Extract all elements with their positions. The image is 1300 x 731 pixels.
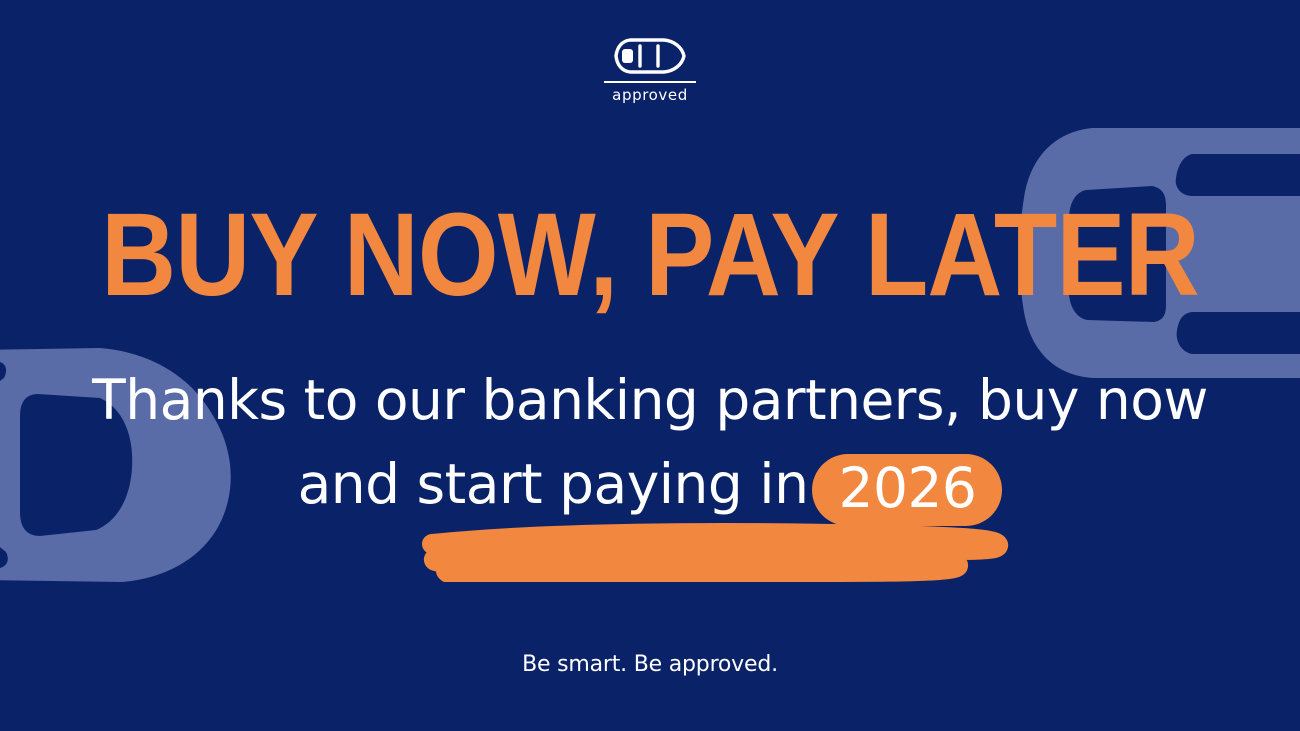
year-badge: 2026	[812, 454, 1002, 526]
tagline: Be smart. Be approved.	[0, 652, 1300, 677]
subheading-line-2-text: and start paying in	[298, 452, 809, 516]
logo-wordmark: approved	[590, 87, 710, 104]
subheading-line-2: and start paying in2026	[0, 442, 1300, 526]
car-top-view-icon	[614, 36, 686, 76]
subheading-line-1: Thanks to our banking partners, buy now	[0, 358, 1300, 442]
headline: BUY NOW, PAY LATER	[78, 196, 1222, 314]
logo-divider-rule	[604, 81, 696, 83]
subheading: Thanks to our banking partners, buy now …	[0, 358, 1300, 526]
brand-logo: approved	[590, 36, 710, 104]
promo-banner: approved BUY NOW, PAY LATER Thanks to ou…	[0, 0, 1300, 731]
